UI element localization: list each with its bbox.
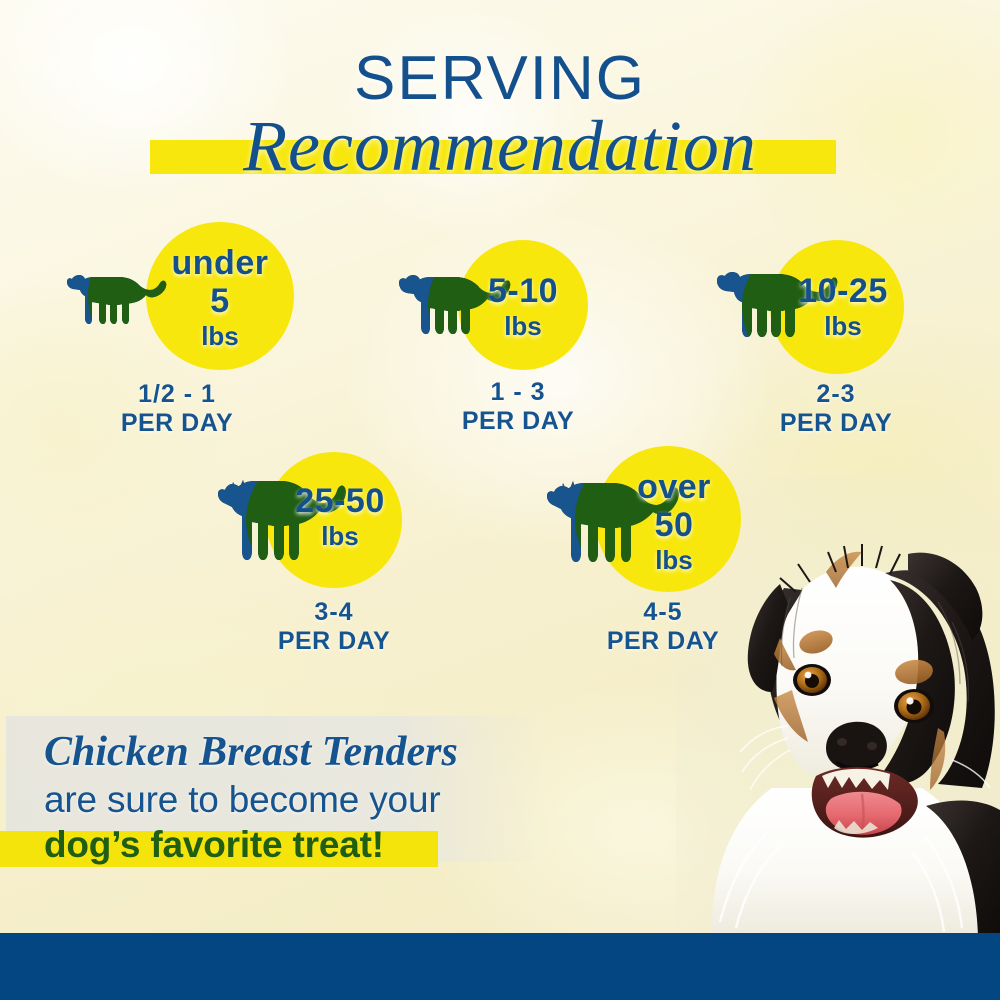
serving-group-5-10: 5-10 lbs 1 - 3 PER DAY (398, 240, 638, 445)
weight-label: over 50 lbs (601, 470, 747, 573)
copy-line-favorite-treat: dog’s favorite treat! (0, 823, 458, 867)
footer-bar (0, 933, 1000, 1000)
serving-caption: 3-4 PER DAY (214, 598, 454, 656)
serving-group-25-50: 25-50 lbs 3-4 PER DAY (214, 452, 454, 662)
weight-label: under 5 lbs (146, 246, 294, 349)
serving-group-10-25: 10-25 lbs 2-3 PER DAY (716, 240, 956, 445)
serving-group-over-50: over 50 lbs 4-5 PER DAY (543, 446, 783, 662)
copy-line-product-name: Chicken Breast Tenders (0, 716, 458, 777)
page-title: SERVING Recommendation (0, 46, 1000, 192)
title-serving: SERVING (0, 46, 1000, 112)
bottom-copy-block: Chicken Breast Tenders are sure to becom… (0, 716, 458, 871)
serving-caption: 1 - 3 PER DAY (398, 378, 638, 436)
weight-label: 25-50 lbs (272, 484, 408, 549)
serving-group-under-5: under 5 lbs 1/2 - 1 PER DAY (62, 222, 292, 437)
serving-caption: 1/2 - 1 PER DAY (62, 380, 292, 438)
copy-line-highlight-wrap: dog’s favorite treat! (0, 823, 458, 871)
copy-line-middle: are sure to become your (0, 777, 458, 823)
serving-recommendation-poster: SERVING Recommendation under 5 (0, 0, 1000, 1000)
title-recommendation: Recommendation (0, 108, 1000, 186)
weight-label: 10-25 lbs (776, 274, 910, 339)
serving-caption: 4-5 PER DAY (543, 598, 783, 656)
title-recommendation-wrap: Recommendation (0, 108, 1000, 192)
serving-caption: 2-3 PER DAY (716, 380, 956, 438)
weight-label: 5-10 lbs (458, 274, 588, 339)
